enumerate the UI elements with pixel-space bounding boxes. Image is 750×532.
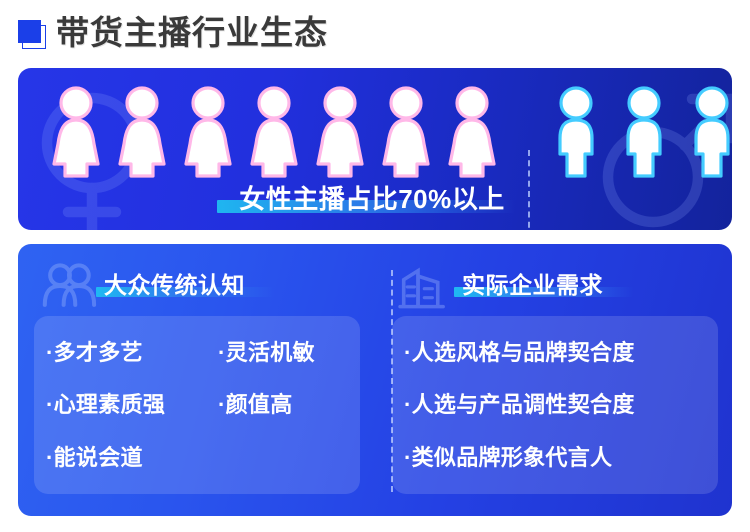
list-item: ·类似品牌形象代言人 [404,445,612,470]
male-figure-icon [550,86,602,185]
column-public-perception: 大众传统认知 ·多才多艺·灵活机敏·心理素质强·颜值高·能说会道 [18,244,374,516]
stat-line: 女性主播占比70%以上 [18,185,732,214]
building-icon [398,260,456,312]
stat-text: 女性主播占比70%以上 [239,185,505,214]
male-figure-icon [686,86,732,185]
female-figure-icon [248,86,300,185]
item-row: ·类似品牌形象代言人 [404,445,710,470]
items-box: ·人选风格与品牌契合度·人选与产品调性契合度·类似品牌形象代言人 [392,316,718,494]
item-row: ·人选与产品调性契合度 [404,392,710,417]
comparison-panel: 大众传统认知 ·多才多艺·灵活机敏·心理素质强·颜值高·能说会道 [18,244,732,516]
infographic-root: 带货主播行业生态 女性主播占比70%以上 [0,0,750,532]
female-figure-icon [446,86,498,185]
female-figure-icon [116,86,168,185]
column-title: 大众传统认知 [104,273,245,298]
page-title-text: 带货主播行业生态 [56,16,328,49]
list-item: ·心理素质强 [46,392,218,417]
item-row: ·心理素质强·颜值高 [46,392,352,417]
male-figure-icon [618,86,670,185]
list-item: ·能说会道 [46,445,218,470]
gender-ratio-panel: 女性主播占比70%以上 [18,68,732,230]
items-box: ·多才多艺·灵活机敏·心理素质强·颜值高·能说会道 [34,316,360,494]
blue-square-icon [18,20,42,44]
column-header: 大众传统认知 [40,260,360,312]
column-header: 实际企业需求 [398,260,718,312]
female-figure-icon [314,86,366,185]
female-figure-icon [182,86,234,185]
column-title: 实际企业需求 [462,273,603,298]
list-item: ·人选与产品调性契合度 [404,392,635,417]
item-row: ·能说会道 [46,445,352,470]
female-figure-icon [380,86,432,185]
list-item: ·人选风格与品牌契合度 [404,340,635,365]
item-row: ·人选风格与品牌契合度 [404,340,710,365]
list-item: ·灵活机敏 [218,340,315,365]
list-item: ·多才多艺 [46,340,218,365]
item-row: ·多才多艺·灵活机敏 [46,340,352,365]
people-group-icon [40,260,98,312]
column-enterprise-demand: 实际企业需求 ·人选风格与品牌契合度·人选与产品调性契合度·类似品牌形象代言人 [376,244,732,516]
page-title: 带货主播行业生态 [18,8,328,56]
list-item: ·颜值高 [218,392,293,417]
female-figure-icon [50,86,102,185]
figure-row [18,68,732,178]
